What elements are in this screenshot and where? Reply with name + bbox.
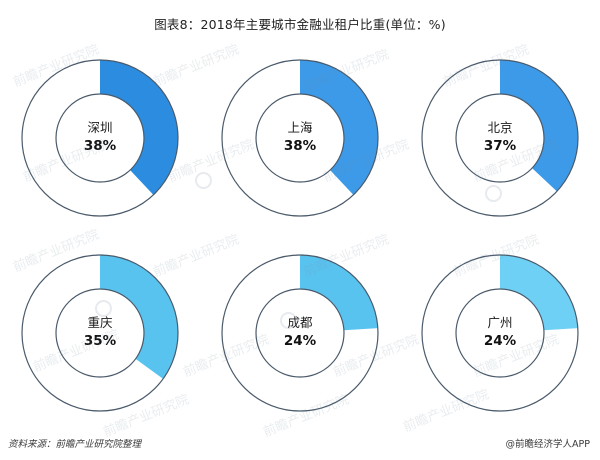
- donut-cell: 深圳38%: [0, 40, 200, 235]
- donut-chart-北京: 北京37%: [416, 54, 584, 222]
- donut-inner-outline: [56, 289, 144, 377]
- page-title: 图表8：2018年主要城市金融业租户比重(单位：%): [0, 14, 600, 33]
- donut-cell: 广州24%: [400, 235, 600, 430]
- credit-note: @前瞻经济学人APP: [506, 436, 590, 450]
- donut-chart-广州: 广州24%: [416, 249, 584, 417]
- donut-chart-深圳: 深圳38%: [16, 54, 184, 222]
- donut-chart-重庆: 重庆35%: [16, 249, 184, 417]
- donut-inner-outline: [56, 94, 144, 182]
- donut-segment-深圳: [100, 60, 178, 195]
- donut-segment-北京: [500, 60, 578, 191]
- donut-segment-重庆: [100, 255, 178, 379]
- donut-cell: 上海38%: [200, 40, 400, 235]
- source-note: 资料来源：前瞻产业研究院整理: [8, 436, 141, 450]
- donut-inner-outline: [256, 94, 344, 182]
- donut-cell: 北京37%: [400, 40, 600, 235]
- donut-chart-成都: 成都24%: [216, 249, 384, 417]
- donut-inner-outline: [456, 289, 544, 377]
- donut-segment-上海: [300, 60, 378, 195]
- donut-chart-grid: 深圳38%上海38%北京37%重庆35%成都24%广州24%: [0, 40, 600, 430]
- donut-cell: 成都24%: [200, 235, 400, 430]
- donut-chart-上海: 上海38%: [216, 54, 384, 222]
- donut-inner-outline: [456, 94, 544, 182]
- donut-inner-outline: [256, 289, 344, 377]
- donut-cell: 重庆35%: [0, 235, 200, 430]
